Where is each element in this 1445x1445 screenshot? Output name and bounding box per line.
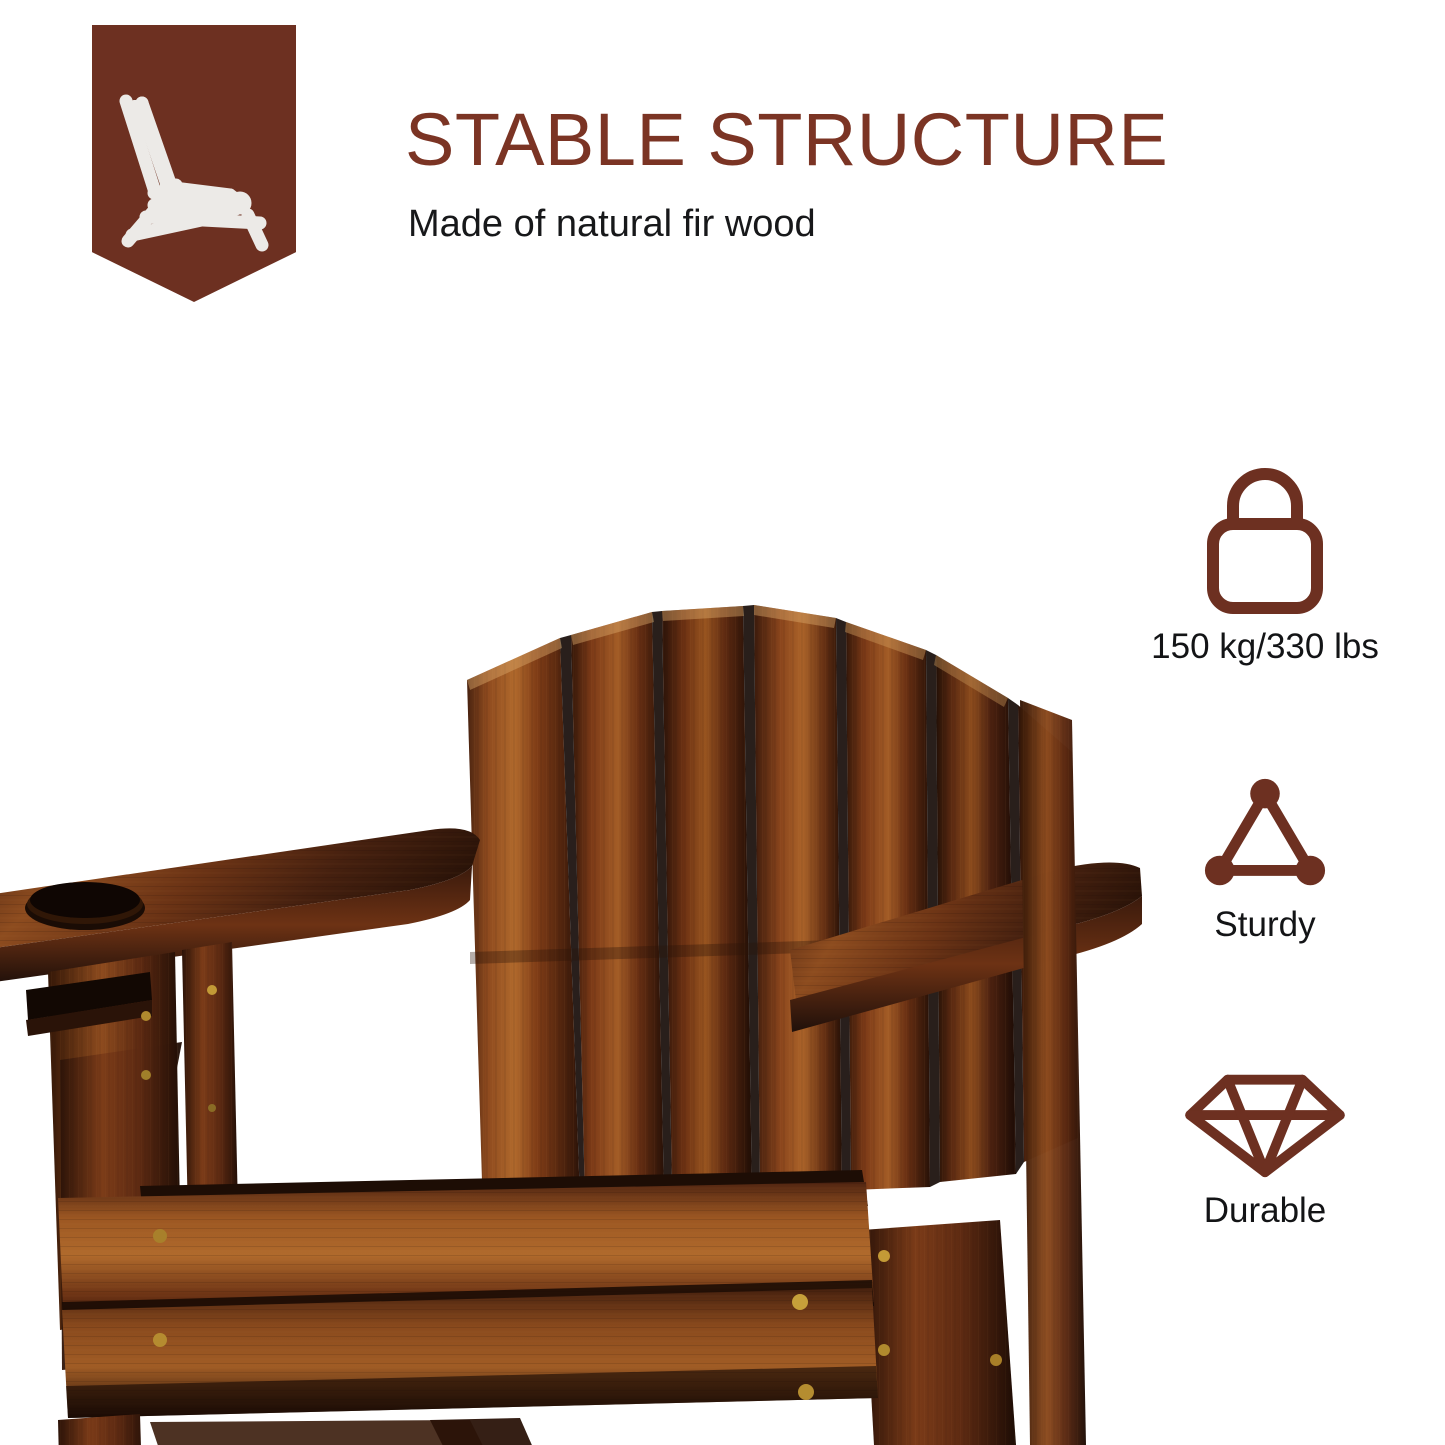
- feature-label: Durable: [1115, 1192, 1415, 1231]
- padlock-icon: [1115, 462, 1415, 622]
- feature-label: Sturdy: [1115, 906, 1415, 945]
- infographic-page: STABLE STRUCTURE Made of natural fir woo…: [0, 0, 1445, 1445]
- product-photo: [0, 300, 1145, 1445]
- chair-seat: [50, 1170, 878, 1445]
- page-title: STABLE STRUCTURE: [405, 103, 1168, 177]
- deck-chair-icon: [110, 93, 278, 253]
- ribbon-banner: [92, 25, 296, 302]
- feature-weight-capacity: 150 kg/330 lbs: [1115, 462, 1415, 667]
- feature-label: 150 kg/330 lbs: [1115, 628, 1415, 667]
- triangle-nodes-icon: [1115, 772, 1415, 900]
- page-subtitle: Made of natural fir wood: [408, 205, 816, 243]
- diamond-gem-icon: [1115, 1058, 1415, 1186]
- feature-durable: Durable: [1115, 1058, 1415, 1231]
- feature-sturdy: Sturdy: [1115, 772, 1415, 945]
